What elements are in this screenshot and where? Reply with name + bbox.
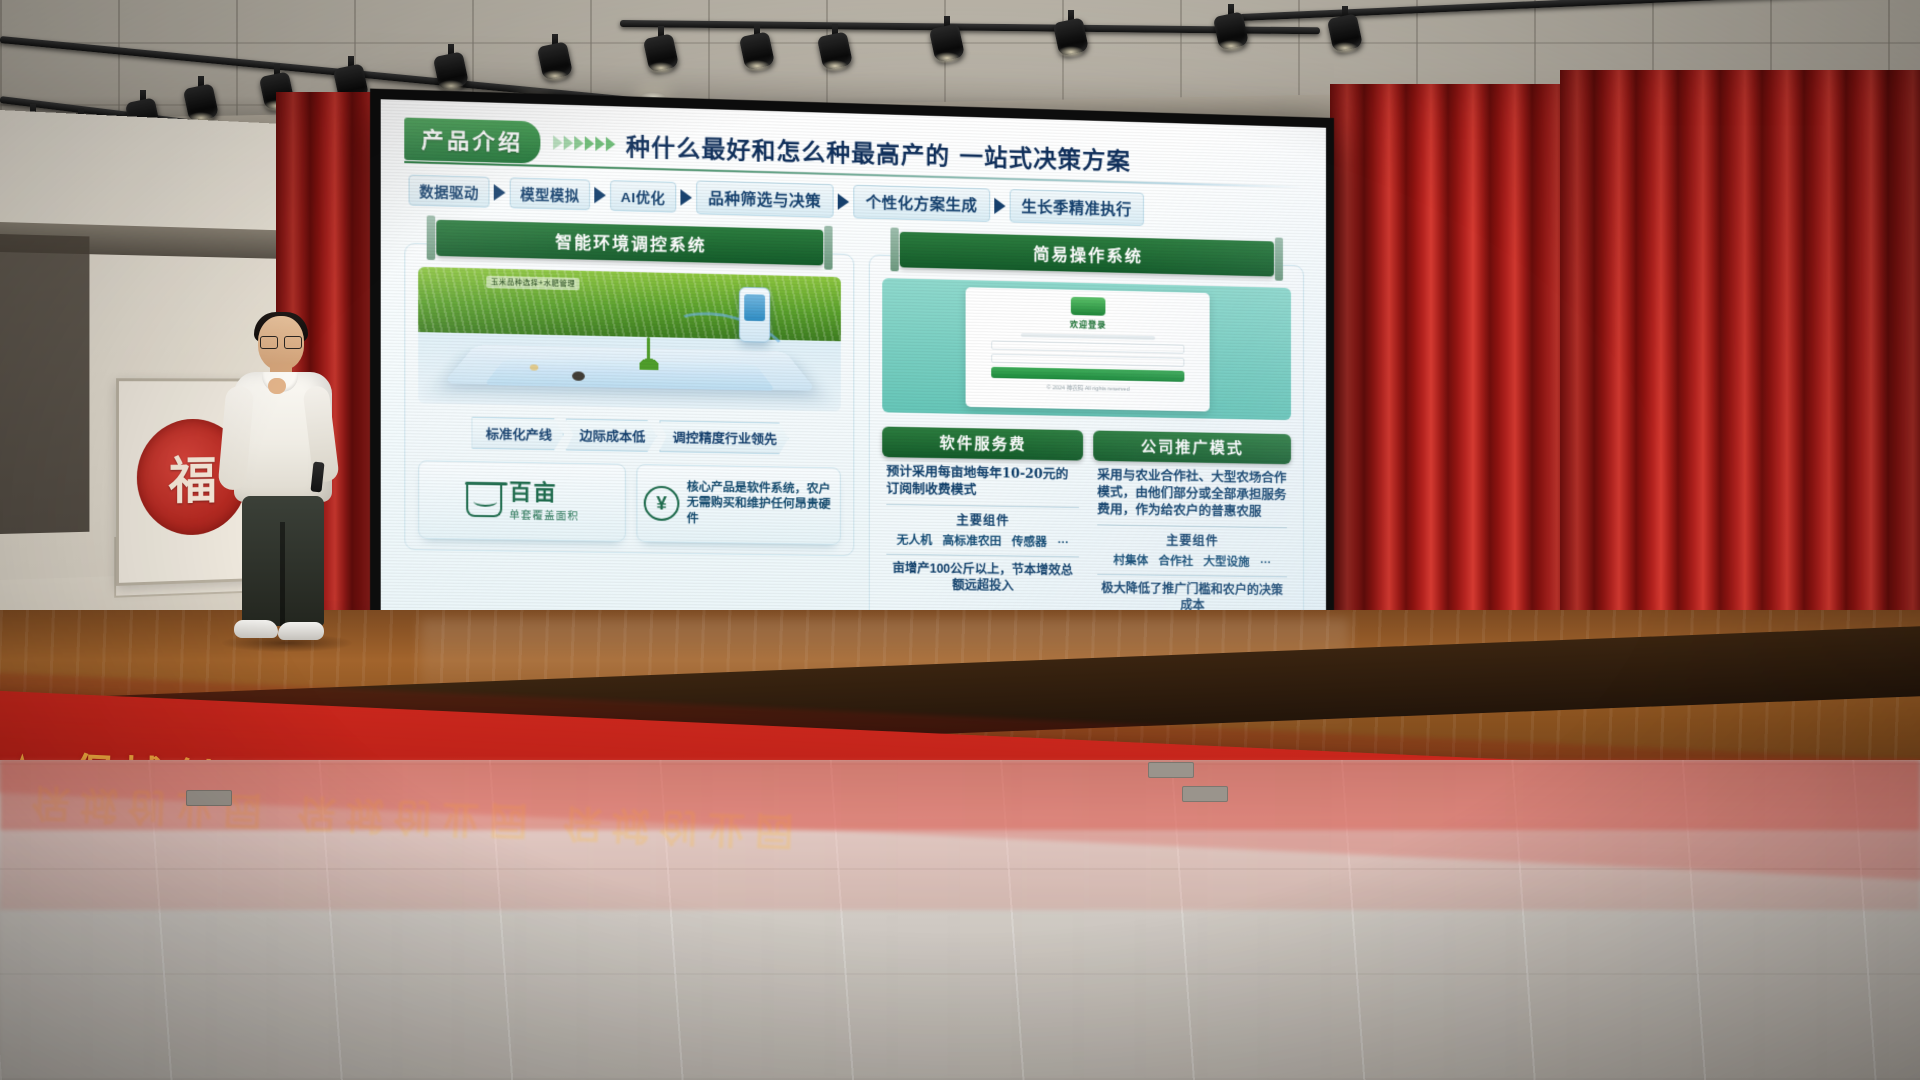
wall-dark-panel xyxy=(0,234,89,534)
software-note-text: 核心产品是软件系统，农户无需购买和维护任何昂贵硬件 xyxy=(687,480,834,529)
biz-subheading-2: 主要组件 xyxy=(1097,530,1287,550)
divider xyxy=(1097,524,1287,528)
biz-body-1: 预计采用每亩地每年10-20元的订阅制收费模式 主要组件 无人机 高标准农田 传… xyxy=(882,457,1083,595)
presenter-shoe-right xyxy=(278,622,324,640)
divider xyxy=(886,553,1079,557)
coverage-sublabel: 单套覆盖面积 xyxy=(509,506,579,523)
presenter xyxy=(212,316,352,666)
biz-subheading-1: 主要组件 xyxy=(886,510,1079,530)
isometric-slab-lower xyxy=(484,359,777,391)
spotlight-icon xyxy=(540,34,570,80)
biz-tag: … xyxy=(1057,534,1069,550)
biz-tag: 传感器 xyxy=(1012,533,1047,550)
led-screen[interactable]: 产品介绍 种什么最好和怎么种最高产的 一站式决策方案 数据驱动 模型模拟 AI优… xyxy=(370,89,1334,678)
panel-environment-control: 智能环境调控系统 玉米品种选择+水肥管理 xyxy=(404,219,854,620)
process-step-1[interactable]: 数据驱动 xyxy=(409,174,490,207)
panel-simple-operation: 简易操作系统 欢迎登录 © 2024 神农码 A xyxy=(869,231,1304,626)
feature-chip-row: 标准化产线 边际成本低 调控精度行业领先 xyxy=(418,416,841,456)
spotlight-icon xyxy=(932,16,962,62)
panel-body-right: 欢迎登录 © 2024 神农码 All rights reserved xyxy=(869,254,1304,625)
coverage-number: 百亩 xyxy=(509,481,579,504)
step-arrow-icon xyxy=(838,193,849,210)
biz-note-1: 亩增产100公斤以上，节本增效总额远超投入 xyxy=(886,560,1079,595)
app-welcome-text: 欢迎登录 xyxy=(1070,319,1107,331)
biz-card-software-fee: 软件服务费 预计采用每亩地每年10-20元的订阅制收费模式 主要组件 无人机 高… xyxy=(882,427,1083,612)
biz-tag: 无人机 xyxy=(897,531,933,548)
floor-vent-grate xyxy=(1182,786,1228,802)
spotlight-icon xyxy=(1056,10,1086,56)
app-login-button[interactable] xyxy=(991,367,1184,382)
presenter-legs xyxy=(242,496,324,626)
spotlight-icon xyxy=(742,24,772,70)
illustration-caption: 玉米品种选择+水肥管理 xyxy=(487,276,580,291)
floor-color-reflection xyxy=(0,760,1920,1080)
app-login-mockup: 欢迎登录 © 2024 神农码 All rights reserved xyxy=(882,278,1291,420)
biz-lead-1: 预计采用每亩地每年10-20元的订阅制收费模式 xyxy=(886,463,1079,500)
biz-tag: 高标准农田 xyxy=(942,532,1001,549)
spotlight-icon xyxy=(820,24,850,70)
crop-field-graphic xyxy=(418,267,841,342)
app-logo-icon xyxy=(1071,297,1106,316)
biz-tag-row-1: 无人机 高标准农田 传感器 … xyxy=(886,531,1079,550)
app-account-field[interactable] xyxy=(991,340,1184,353)
biz-tag: 村集体 xyxy=(1113,551,1148,568)
feature-chip-3[interactable]: 调控精度行业领先 xyxy=(659,420,789,454)
business-model-cards: 软件服务费 预计采用每亩地每年10-20元的订阅制收费模式 主要组件 无人机 高… xyxy=(882,427,1291,615)
app-footer-text: © 2024 神农码 All rights reserved xyxy=(1047,383,1130,393)
divider xyxy=(886,504,1079,508)
step-arrow-icon xyxy=(494,184,506,201)
mini-card-row: 百亩 单套覆盖面积 ¥ 核心产品是软件系统，农户无需购买和维护任何昂贵硬件 xyxy=(418,460,841,545)
biz-tag: 合作社 xyxy=(1158,552,1193,569)
app-password-field[interactable] xyxy=(991,354,1184,367)
soil-dot-graphic xyxy=(572,371,585,381)
mobile-phone-icon xyxy=(739,287,770,343)
environment-illustration: 玉米品种选择+水肥管理 xyxy=(418,267,841,412)
spotlight-icon xyxy=(1330,6,1360,52)
app-subtitle-line xyxy=(1021,333,1156,340)
presenter-hand xyxy=(268,378,286,394)
auditorium-scene: 产品介绍 种什么最好和怎么种最高产的 一站式决策方案 数据驱动 模型模拟 AI优… xyxy=(0,0,1920,1080)
step-arrow-icon xyxy=(994,197,1005,214)
yen-circle-icon: ¥ xyxy=(644,486,680,521)
mini-card-coverage: 百亩 单套覆盖面积 xyxy=(418,460,626,542)
floor-vent-grate xyxy=(1148,762,1194,778)
floor-vent-grate xyxy=(186,790,232,806)
process-step-6[interactable]: 生长季精准执行 xyxy=(1009,189,1144,226)
presentation-slide: 产品介绍 种什么最好和怎么种最高产的 一站式决策方案 数据驱动 模型模拟 AI优… xyxy=(381,99,1326,664)
feature-chip-1[interactable]: 标准化产线 xyxy=(472,417,564,451)
glasses-icon xyxy=(260,336,302,347)
app-login-card: 欢迎登录 © 2024 神农码 All rights reserved xyxy=(965,287,1210,411)
process-step-4[interactable]: 品种筛选与决策 xyxy=(696,180,834,217)
spotlight-icon xyxy=(436,44,466,90)
led-screen-surface: 产品介绍 种什么最好和怎么种最高产的 一站式决策方案 数据驱动 模型模拟 AI优… xyxy=(381,99,1326,664)
process-step-5[interactable]: 个性化方案生成 xyxy=(853,185,989,222)
step-arrow-icon xyxy=(680,189,692,206)
mini-card-software: ¥ 核心产品是软件系统，农户无需购买和维护任何昂贵硬件 xyxy=(636,464,840,545)
field-coverage-icon xyxy=(466,484,502,518)
spotlight-icon xyxy=(646,26,676,72)
biz-tag: … xyxy=(1260,554,1272,570)
biz-header-1: 软件服务费 xyxy=(882,427,1083,461)
plant-icon xyxy=(640,343,659,370)
divider xyxy=(1097,573,1287,577)
process-step-3[interactable]: AI优化 xyxy=(610,180,676,213)
step-arrow-icon xyxy=(594,186,606,203)
slide-section-tag: 产品介绍 xyxy=(404,117,540,163)
spotlight-icon xyxy=(1216,4,1246,50)
biz-lead-2: 采用与农业合作社、大型农场合作模式，由他们部分或全部承担服务费用，作为给农户的普… xyxy=(1097,467,1287,521)
biz-body-2: 采用与农业合作社、大型农场合作模式，由他们部分或全部承担服务费用，作为给农户的普… xyxy=(1093,461,1291,615)
biz-tag: 大型设施 xyxy=(1203,553,1249,570)
slide-panels: 智能环境调控系统 玉米品种选择+水肥管理 xyxy=(404,219,1304,626)
chevron-run-icon xyxy=(553,135,615,151)
process-step-2[interactable]: 模型模拟 xyxy=(510,177,590,210)
spotlight-icon xyxy=(186,76,216,122)
biz-card-promotion-model: 公司推广模式 采用与农业合作社、大型农场合作模式，由他们部分或全部承担服务费用，… xyxy=(1093,430,1291,614)
feature-chip-2[interactable]: 边际成本低 xyxy=(566,419,657,452)
biz-header-2: 公司推广模式 xyxy=(1093,430,1291,464)
panel-body-left: 玉米品种选择+水肥管理 标准化产线 xyxy=(404,243,854,557)
presenter-shoe-left xyxy=(234,620,278,638)
biz-tag-row-2: 村集体 合作社 大型设施 … xyxy=(1097,551,1287,570)
